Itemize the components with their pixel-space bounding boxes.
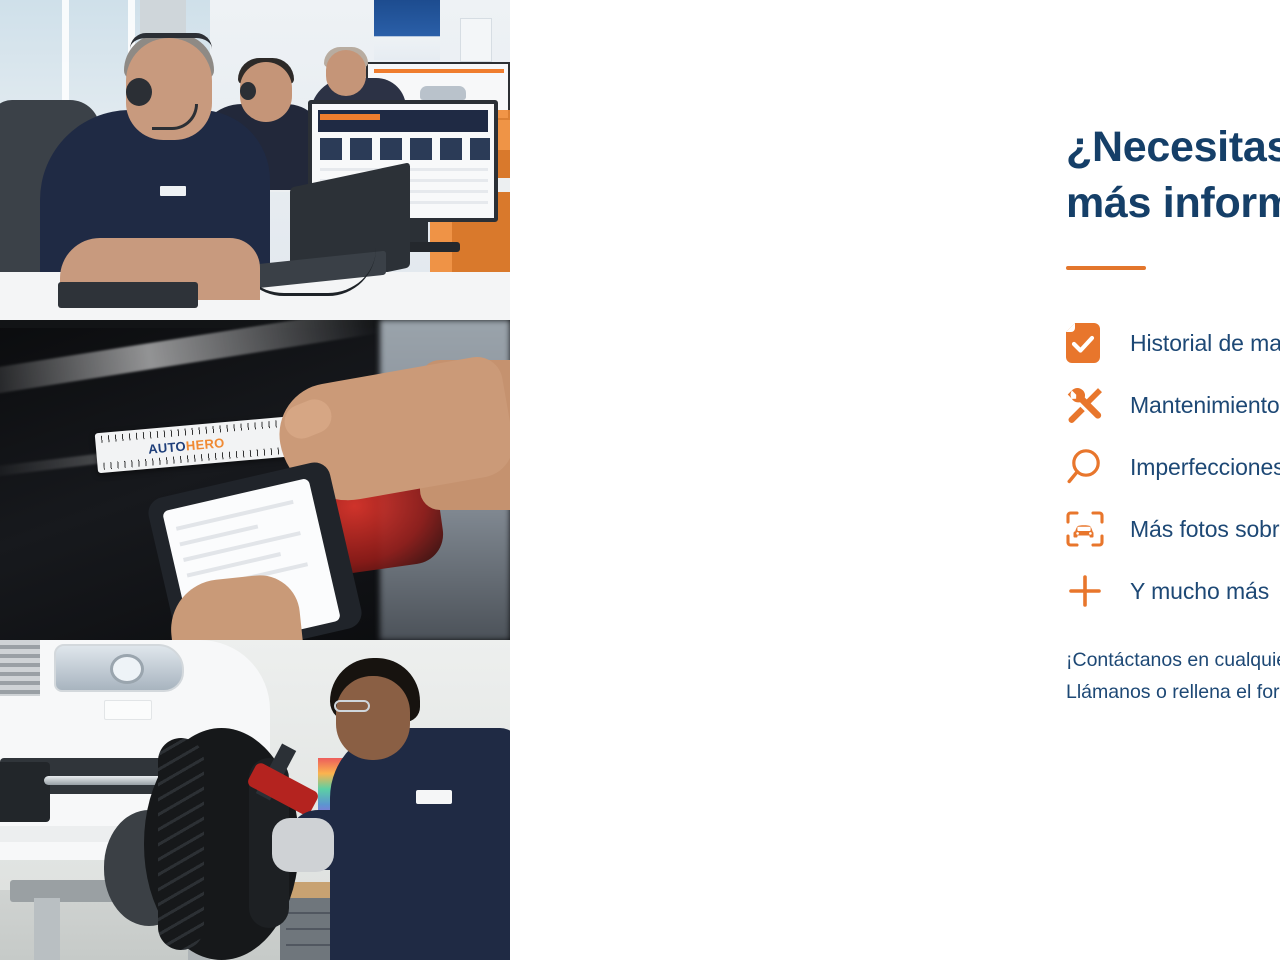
feature-label: Imperfecciones [1130,454,1280,481]
feature-item-historial: Historial de mantenimientos [1066,312,1280,374]
feature-label: Más fotos sobre el coche [1130,516,1280,543]
promo-page: AUTOHERO [0,0,1280,960]
photo-wheel-service [0,640,510,960]
contact-paragraph: ¡Contáctanos en cualquier momento para m… [1066,645,1280,708]
headline-line-1: ¿Necesitas [1066,120,1280,176]
tools-cross-icon [1066,385,1114,425]
contact-line-2: Llámanos o rellena el formulario de cont… [1066,677,1280,709]
feature-label: Mantenimiento realizado [1130,392,1280,419]
photo-call-center [0,0,510,320]
page-title: ¿Necesitas más información? [1066,120,1280,232]
car-photo-frame-icon [1066,511,1114,547]
content-panel: ¿Necesitas más información? Historial de… [510,0,1280,960]
headline-line-2: más información? [1066,176,1280,232]
document-check-icon [1066,323,1114,363]
plus-icon [1066,572,1114,610]
feature-item-imperfecciones: Imperfecciones [1066,436,1280,498]
feature-label: Y mucho más [1130,578,1269,605]
feature-label: Historial de mantenimientos [1130,330,1280,357]
magnifier-icon [1066,448,1114,486]
photo-car-inspection: AUTOHERO [0,320,510,640]
photo-column: AUTOHERO [0,0,510,960]
title-divider [1066,266,1146,270]
feature-item-fotos: Más fotos sobre el coche [1066,498,1280,560]
feature-item-mucho-mas: Y mucho más [1066,560,1280,622]
contact-line-1: ¡Contáctanos en cualquier momento para m… [1066,645,1280,677]
feature-list: Historial de mantenimientos Mantenimient… [1066,312,1280,622]
feature-item-mantenimiento: Mantenimiento realizado [1066,374,1280,436]
